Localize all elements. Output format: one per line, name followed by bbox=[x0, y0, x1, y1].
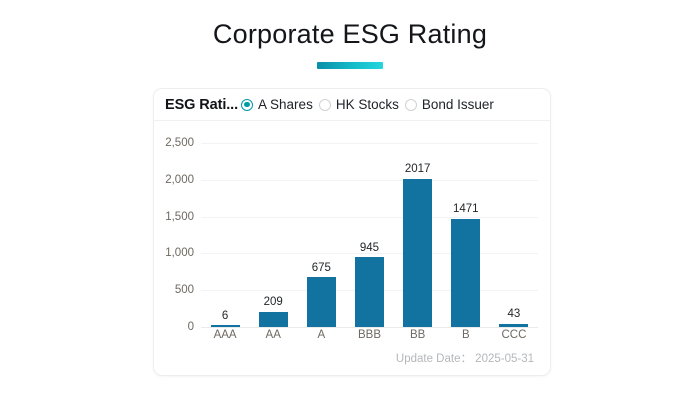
page-header: Corporate ESG Rating bbox=[0, 0, 700, 69]
x-axis-tick-label: BBB bbox=[345, 329, 393, 341]
y-axis-tick-label: 2,000 bbox=[165, 174, 194, 186]
bar-slot[interactable]: 1471 bbox=[442, 143, 490, 327]
bar-A[interactable] bbox=[307, 277, 336, 327]
bar-BB[interactable] bbox=[403, 179, 432, 327]
bar-AAA[interactable] bbox=[211, 325, 240, 327]
esg-rating-card: ESG Rati... A Shares HK Stocks Bond Issu… bbox=[153, 88, 551, 376]
radio-option-hk-stocks[interactable]: HK Stocks bbox=[319, 97, 399, 112]
radio-label-bond-issuer: Bond Issuer bbox=[422, 97, 494, 112]
x-axis-tick-label: CCC bbox=[490, 329, 538, 341]
bar-value-label: 675 bbox=[312, 263, 331, 275]
y-axis-tick-label: 1,000 bbox=[165, 247, 194, 259]
bar-value-label: 1471 bbox=[453, 204, 479, 216]
page-title: Corporate ESG Rating bbox=[0, 18, 700, 50]
bar-value-label: 2017 bbox=[405, 164, 431, 176]
bar-slot[interactable]: 675 bbox=[297, 143, 345, 327]
chart-plot-area: 05001,0001,5002,0002,500 620967594520171… bbox=[201, 143, 538, 327]
radio-label-hk-stocks: HK Stocks bbox=[336, 97, 399, 112]
legend-label: ESG Rati... bbox=[165, 97, 238, 113]
y-axis-tick-label: 1,500 bbox=[165, 211, 194, 223]
bar-value-label: 209 bbox=[264, 297, 283, 309]
x-axis-tick-label: AA bbox=[249, 329, 297, 341]
bar-slot[interactable]: 945 bbox=[345, 143, 393, 327]
x-axis-tick-label: A bbox=[297, 329, 345, 341]
bar-value-label: 945 bbox=[360, 243, 379, 255]
bar-value-label: 43 bbox=[508, 309, 521, 321]
card-header: ESG Rati... A Shares HK Stocks Bond Issu… bbox=[154, 89, 550, 121]
update-date-note: Update Date： 2025-05-31 bbox=[396, 350, 534, 366]
bar-CCC[interactable] bbox=[499, 324, 528, 327]
chart-body: 05001,0001,5002,0002,500 620967594520171… bbox=[154, 121, 550, 376]
y-axis-tick-label: 500 bbox=[175, 284, 194, 296]
x-axis-tick-label: AAA bbox=[201, 329, 249, 341]
radio-unselected-icon bbox=[319, 99, 331, 111]
x-axis-tick-label: B bbox=[442, 329, 490, 341]
radio-option-a-shares[interactable]: A Shares bbox=[241, 97, 313, 112]
bar-BBB[interactable] bbox=[355, 257, 384, 327]
y-axis-tick-label: 2,500 bbox=[165, 137, 194, 149]
radio-option-bond-issuer[interactable]: Bond Issuer bbox=[405, 97, 494, 112]
chart-x-axis: AAAAAABBBBBBCCC bbox=[201, 329, 538, 341]
bar-slot[interactable]: 43 bbox=[490, 143, 538, 327]
bar-slot[interactable]: 6 bbox=[201, 143, 249, 327]
radio-label-a-shares: A Shares bbox=[258, 97, 313, 112]
title-underline-accent bbox=[317, 62, 383, 69]
y-axis-tick-label: 0 bbox=[188, 321, 194, 333]
bar-B[interactable] bbox=[451, 219, 480, 327]
x-axis-tick-label: BB bbox=[394, 329, 442, 341]
bar-AA[interactable] bbox=[259, 312, 288, 327]
chart-bars: 62096759452017147143 bbox=[201, 143, 538, 327]
bar-slot[interactable]: 209 bbox=[249, 143, 297, 327]
radio-unselected-icon bbox=[405, 99, 417, 111]
bar-value-label: 6 bbox=[222, 311, 228, 323]
bar-slot[interactable]: 2017 bbox=[394, 143, 442, 327]
gridline bbox=[201, 327, 538, 328]
dataset-radio-group[interactable]: A Shares HK Stocks Bond Issuer bbox=[238, 97, 541, 112]
radio-selected-icon bbox=[241, 99, 253, 111]
